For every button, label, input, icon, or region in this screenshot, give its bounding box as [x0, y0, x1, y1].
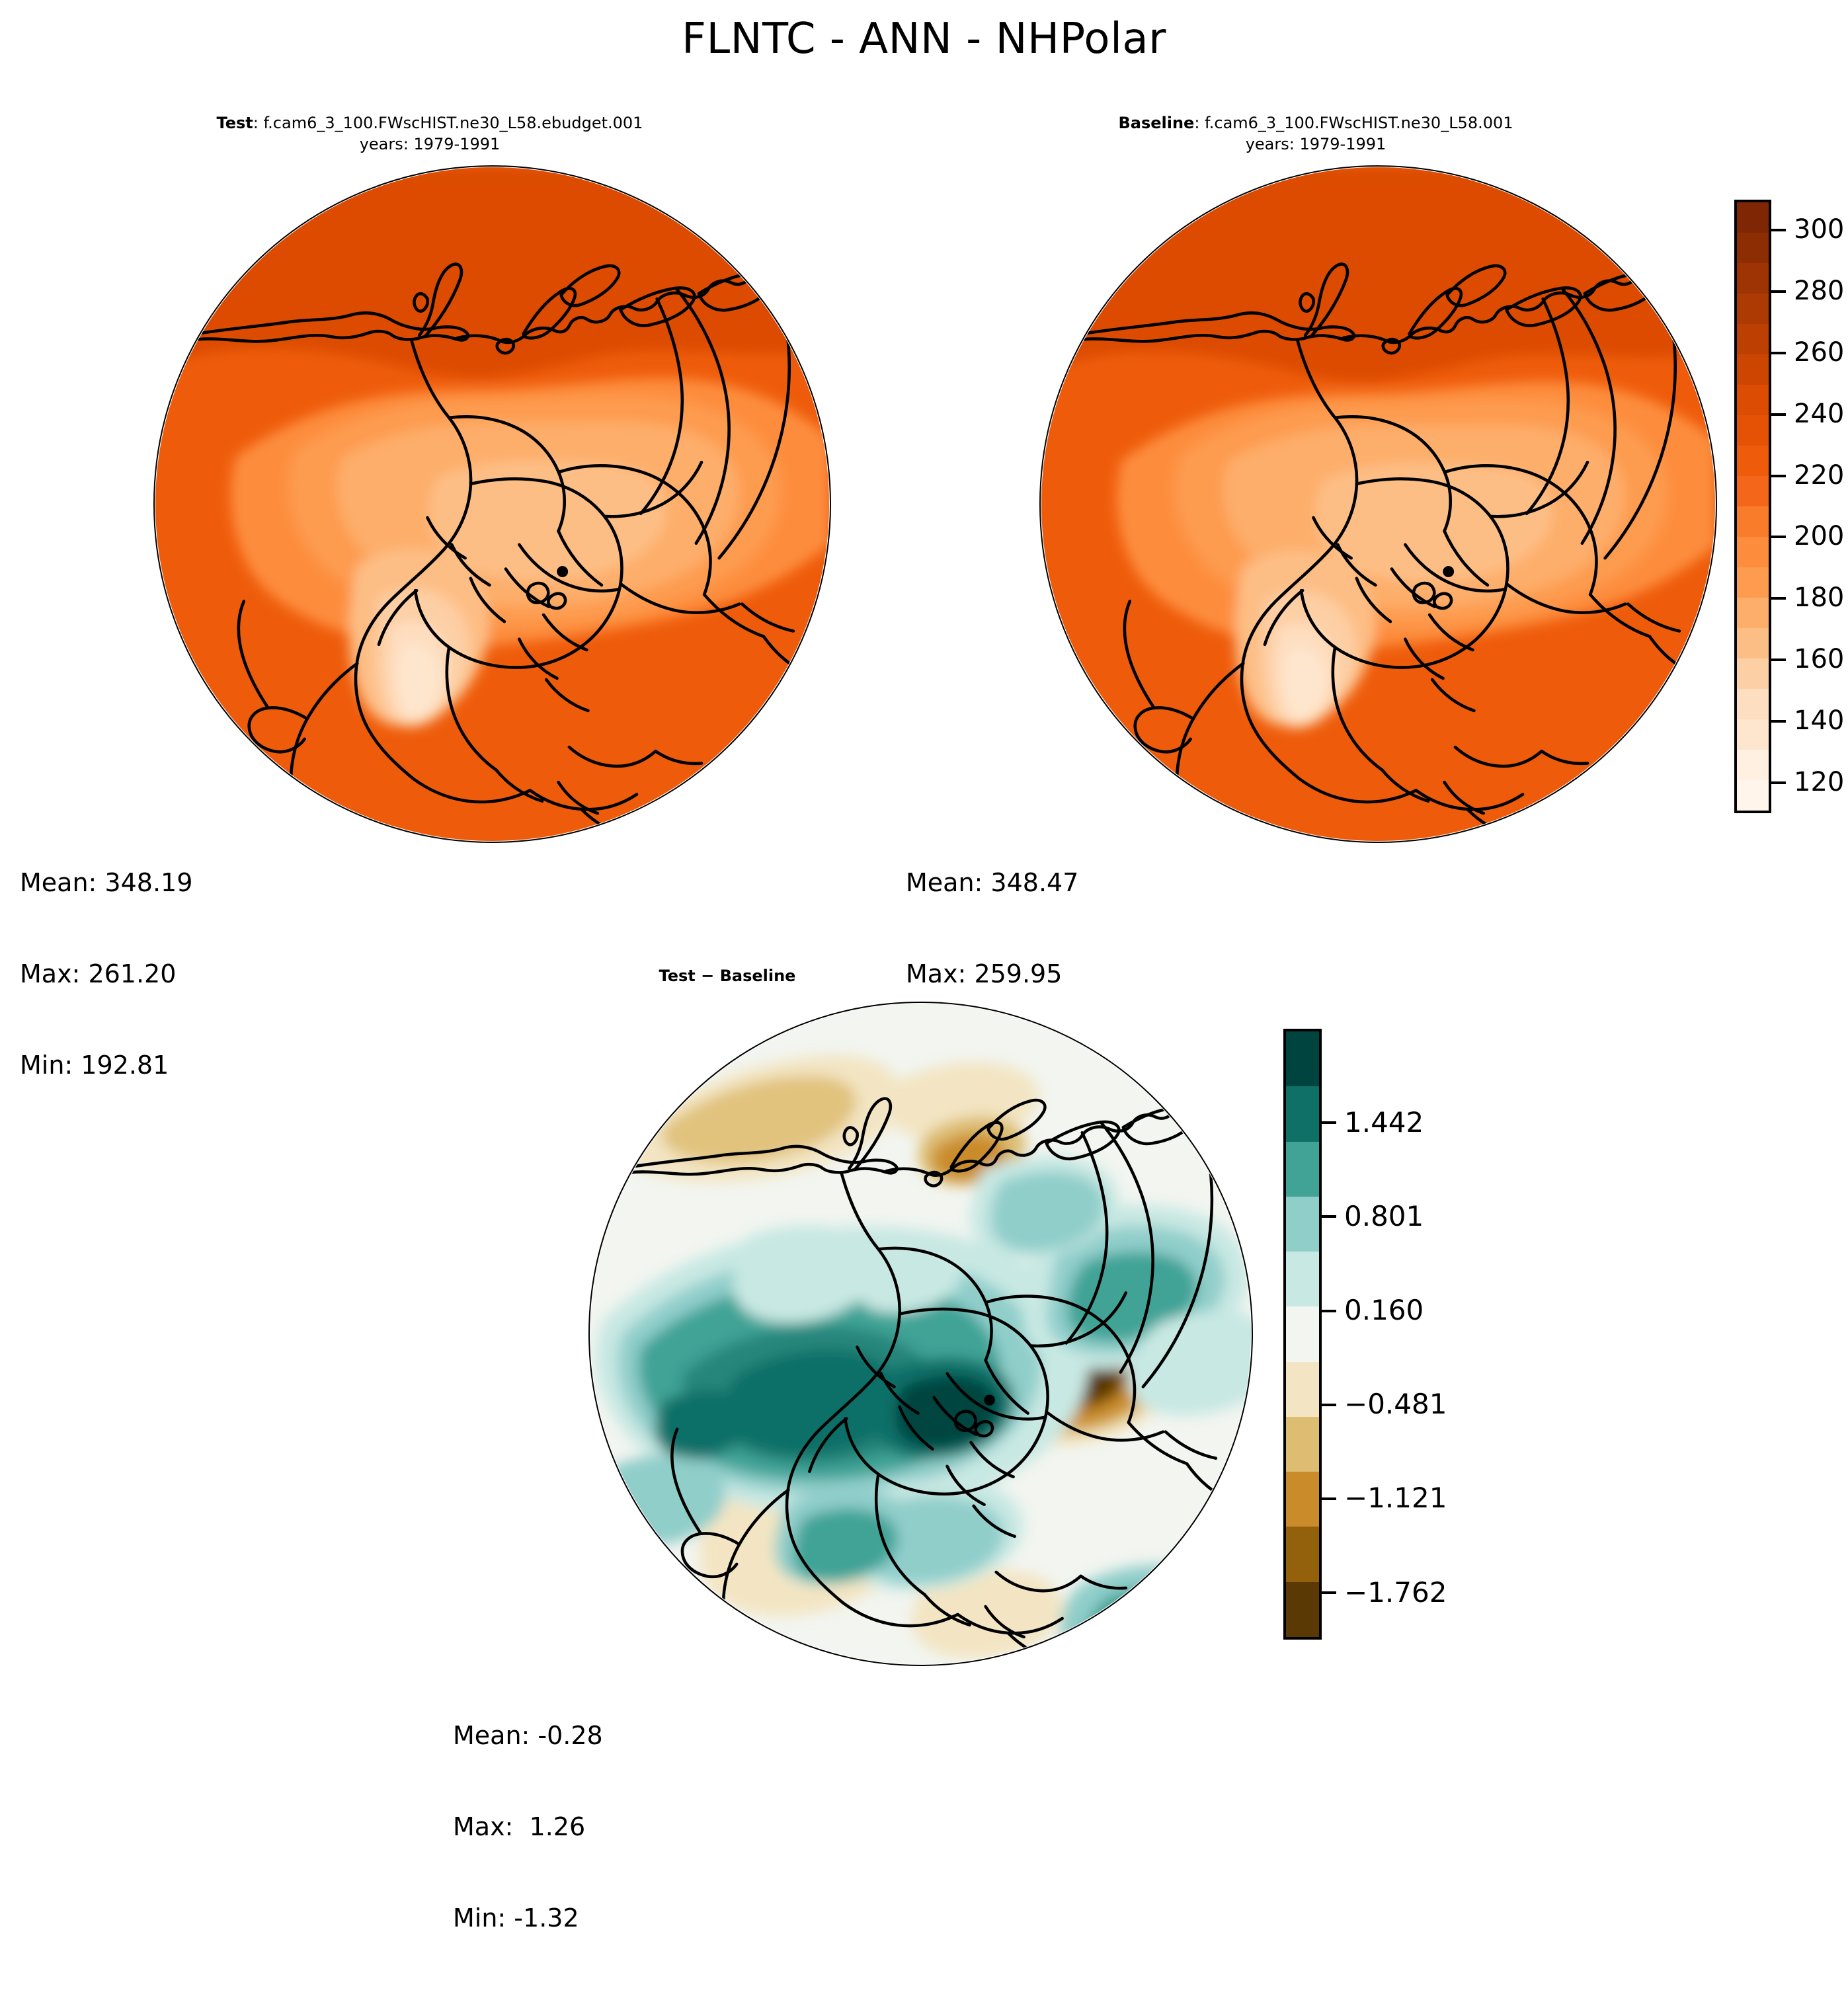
- colorbar-tick-label: 240: [1794, 399, 1844, 429]
- colorbar-tick-label: 0.160: [1344, 1294, 1424, 1326]
- colorbar-band: [1737, 446, 1769, 476]
- colorbar-band: [1737, 263, 1769, 294]
- colorbar-band: [1737, 689, 1769, 719]
- panel-difference: Test − Baseline: [397, 965, 1256, 1759]
- panel-difference-title: Test − Baseline: [397, 965, 1058, 986]
- panel-test-separator: :: [253, 114, 264, 132]
- colorbar-band: [1286, 1031, 1319, 1086]
- colorbar-tick-mark: [1771, 781, 1786, 784]
- colorbar-tick-label: 160: [1794, 644, 1844, 674]
- colorbar-main[interactable]: [1734, 200, 1771, 813]
- colorbar-tick-mark: [1771, 352, 1786, 354]
- colorbar-tick-label: 1.442: [1344, 1106, 1424, 1138]
- colorbar-difference-ticks: 1.4420.8010.160−0.481−1.121−1.762: [1322, 1029, 1520, 1640]
- panel-difference-label: Test − Baseline: [659, 967, 796, 985]
- colorbar-tick-mark: [1771, 536, 1786, 538]
- colorbar-band: [1737, 750, 1769, 780]
- colorbar-tick-label: 220: [1794, 460, 1844, 491]
- colorbar-band: [1737, 476, 1769, 506]
- colorbar-band: [1737, 628, 1769, 658]
- map-test[interactable]: [153, 165, 831, 843]
- panel-difference-min: Min: -1.32: [453, 1903, 603, 1933]
- panel-test-label: Test: [217, 114, 253, 132]
- colorbar-band: [1286, 1527, 1319, 1581]
- colorbar-main-ticks: 300280260240220200180160140120: [1771, 200, 1848, 813]
- colorbar-band: [1737, 294, 1769, 324]
- colorbar-tick-label: −1.762: [1344, 1576, 1447, 1609]
- colorbar-tick-mark: [1771, 658, 1786, 661]
- panel-baseline-title: Baseline: f.cam6_3_100.FWscHIST.ne30_L58…: [886, 112, 1746, 155]
- panel-test-stats: Mean: 348.19 Max: 261.20 Min: 192.81: [20, 807, 192, 1141]
- map-test-canvas: [155, 167, 830, 842]
- colorbar-band: [1737, 719, 1769, 750]
- colorbar-band: [1286, 1362, 1319, 1417]
- panel-baseline: Baseline: f.cam6_3_100.FWscHIST.ne30_L58…: [886, 112, 1746, 939]
- colorbar-tick-mark: [1322, 1497, 1336, 1500]
- map-difference[interactable]: [588, 1002, 1253, 1666]
- colorbar-tick-mark: [1771, 413, 1786, 416]
- colorbar-tick-label: −0.481: [1344, 1388, 1447, 1420]
- colorbar-band: [1737, 567, 1769, 598]
- colorbar-band: [1286, 1582, 1319, 1637]
- colorbar-difference[interactable]: [1283, 1029, 1322, 1640]
- panel-baseline-case-name: f.cam6_3_100.FWscHIST.ne30_L58.001: [1205, 114, 1513, 132]
- map-baseline-canvas: [1041, 167, 1716, 842]
- page-title: FLNTC - ANN - NHPolar: [0, 15, 1848, 63]
- colorbar-tick-label: 200: [1794, 521, 1844, 551]
- colorbar-band: [1286, 1142, 1319, 1197]
- colorbar-tick-mark: [1322, 1310, 1336, 1312]
- panel-baseline-mean: Mean: 348.47: [906, 867, 1078, 898]
- colorbar-tick-mark: [1771, 720, 1786, 723]
- colorbar-band: [1737, 354, 1769, 385]
- colorbar-band: [1286, 1197, 1319, 1252]
- colorbar-tick-mark: [1322, 1215, 1336, 1218]
- colorbar-tick-label: 300: [1794, 214, 1844, 245]
- colorbar-tick-label: −1.121: [1344, 1482, 1447, 1514]
- colorbar-band: [1286, 1086, 1319, 1141]
- colorbar-tick-mark: [1771, 475, 1786, 477]
- colorbar-tick-label: 0.801: [1344, 1200, 1424, 1232]
- colorbar-tick-mark: [1322, 1591, 1336, 1594]
- panel-difference-max: Max: 1.26: [453, 1812, 603, 1842]
- colorbar-band: [1737, 598, 1769, 628]
- panel-test-max: Max: 261.20: [20, 959, 192, 989]
- panel-test-title: Test: f.cam6_3_100.FWscHIST.ne30_L58.ebu…: [0, 112, 860, 155]
- colorbar-band: [1737, 780, 1769, 811]
- colorbar-band: [1286, 1252, 1319, 1306]
- panel-test-mean: Mean: 348.19: [20, 867, 192, 898]
- colorbar-tick-mark: [1771, 290, 1786, 293]
- colorbar-band: [1286, 1472, 1319, 1527]
- panel-test-case-name: f.cam6_3_100.FWscHIST.ne30_L58.ebudget.0…: [263, 114, 643, 132]
- colorbar-band: [1286, 1306, 1319, 1361]
- panel-baseline-separator: :: [1194, 114, 1205, 132]
- colorbar-tick-label: 120: [1794, 767, 1844, 797]
- colorbar-tick-mark: [1771, 229, 1786, 231]
- colorbar-band: [1737, 233, 1769, 263]
- panel-baseline-years: years: 1979-1991: [1246, 135, 1386, 153]
- colorbar-tick-label: 140: [1794, 705, 1844, 736]
- colorbar-tick-mark: [1322, 1121, 1336, 1124]
- colorbar-band: [1737, 202, 1769, 233]
- map-baseline[interactable]: [1039, 165, 1717, 843]
- colorbar-tick-label: 260: [1794, 337, 1844, 368]
- panel-baseline-label: Baseline: [1118, 114, 1194, 132]
- map-difference-canvas: [590, 1003, 1252, 1665]
- colorbar-band: [1737, 537, 1769, 567]
- colorbar-tick-mark: [1322, 1404, 1336, 1406]
- colorbar-tick-label: 280: [1794, 276, 1844, 306]
- colorbar-tick-label: 180: [1794, 582, 1844, 613]
- colorbar-band: [1737, 385, 1769, 415]
- colorbar-band: [1737, 506, 1769, 537]
- panel-test-years: years: 1979-1991: [360, 135, 501, 153]
- colorbar-band: [1737, 415, 1769, 446]
- colorbar-band: [1286, 1417, 1319, 1472]
- panel-test-min: Min: 192.81: [20, 1050, 192, 1080]
- colorbar-band: [1737, 658, 1769, 689]
- panel-difference-mean: Mean: -0.28: [453, 1720, 603, 1751]
- colorbar-tick-mark: [1771, 597, 1786, 600]
- panel-difference-stats: Mean: -0.28 Max: 1.26 Min: -1.32: [453, 1659, 603, 1994]
- colorbar-band: [1737, 324, 1769, 354]
- panel-test: Test: f.cam6_3_100.FWscHIST.ne30_L58.ebu…: [0, 112, 860, 939]
